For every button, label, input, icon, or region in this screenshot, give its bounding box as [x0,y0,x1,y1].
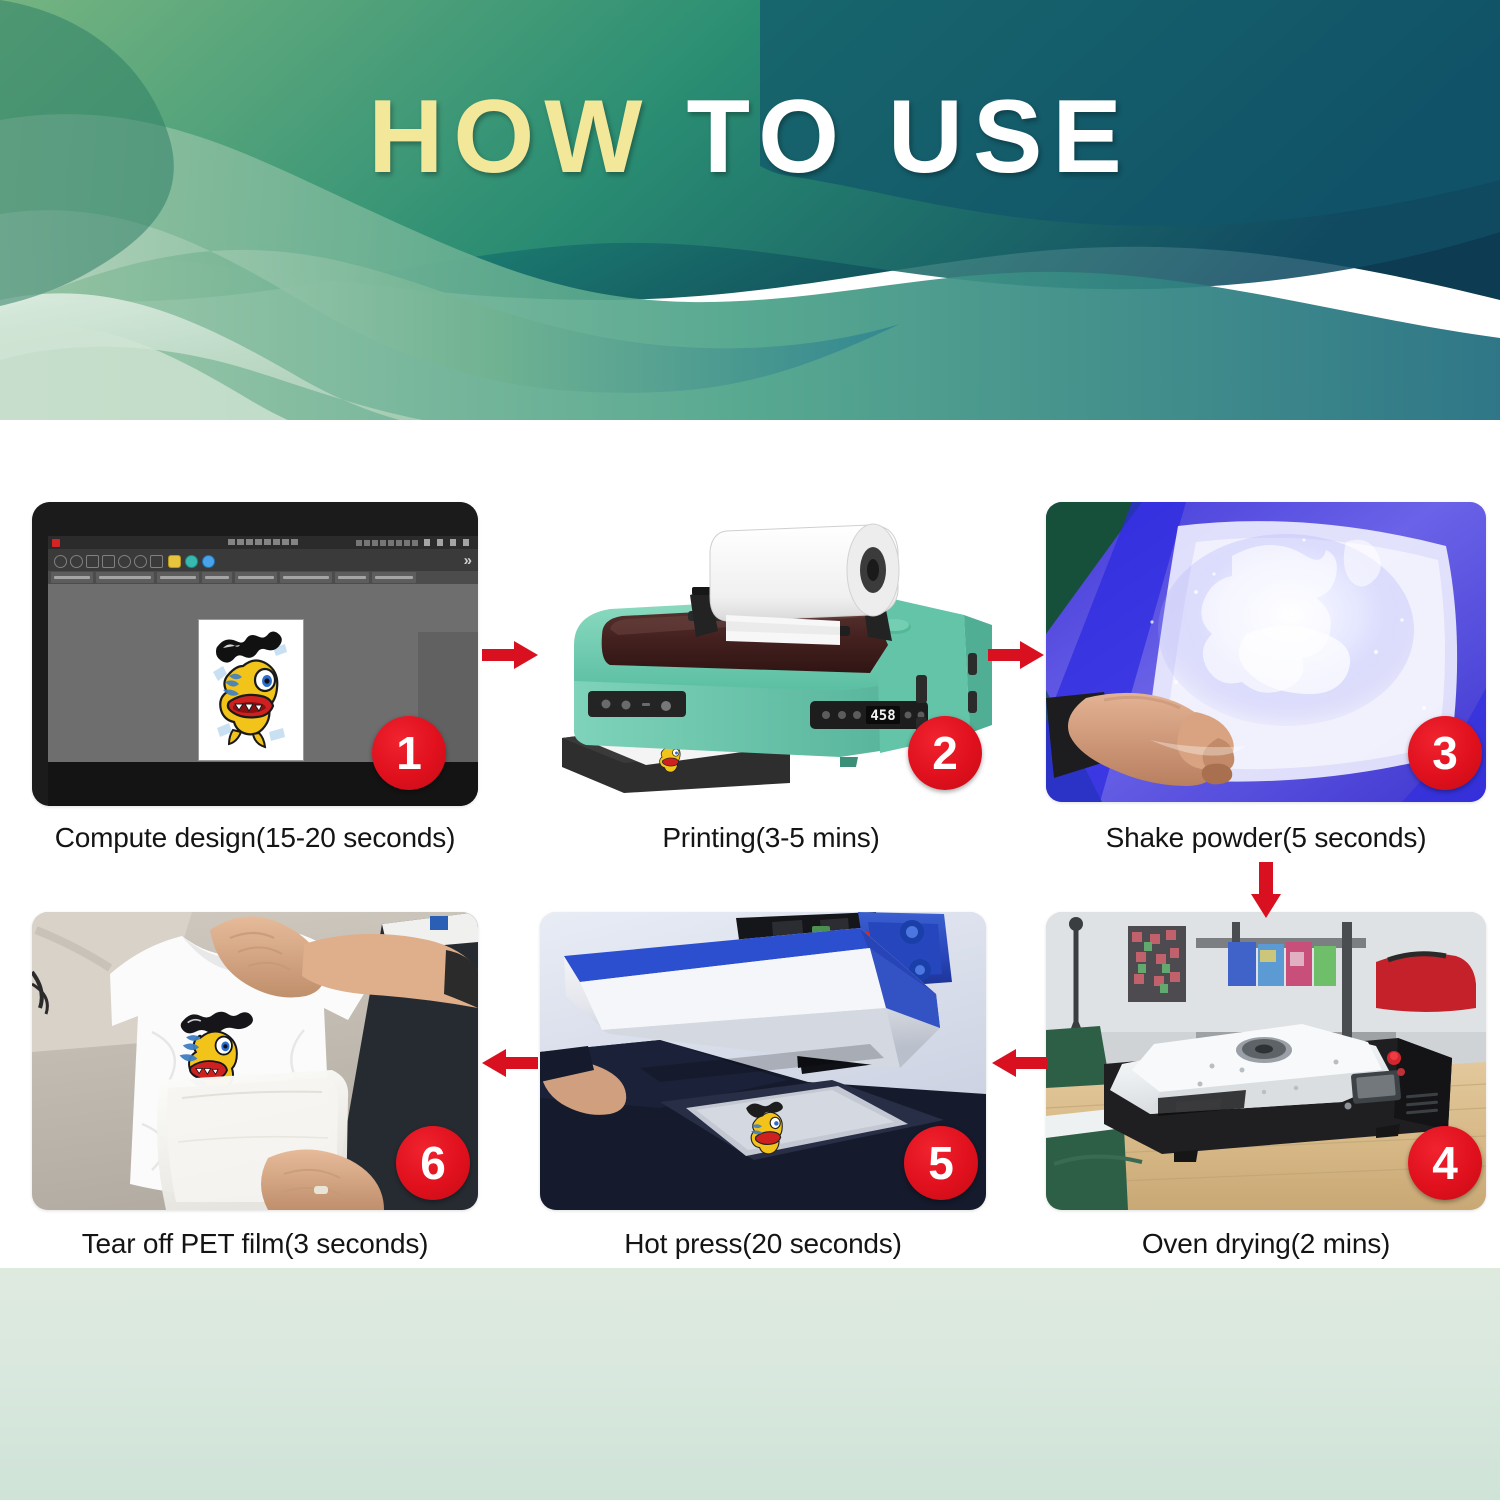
step-number-badge-6: 6 [396,1126,470,1200]
column-header-2[interactable] [96,572,154,583]
app-title-text-placeholder [228,539,298,545]
step-number-badge-2: 2 [908,716,982,790]
app-column-headers[interactable] [48,571,478,584]
toolbar-icon-zoom[interactable] [202,555,215,568]
app-titlebar [48,536,478,549]
chevron-double-right-icon[interactable]: » [464,553,472,568]
page-title-word-2: TO USE [686,79,1131,195]
step-caption-3: Shake powder(5 seconds) [1046,822,1486,854]
arrow-right-icon [482,638,538,672]
toolbar-icon-undo[interactable] [150,555,163,568]
toolbar-icon-paste[interactable] [134,555,147,568]
toolbar-icon-copy[interactable] [118,555,131,568]
step-caption-2: Printing(3-5 mins) [540,822,1002,854]
column-header-7[interactable] [335,572,369,583]
graffiti-character-artwork [199,620,303,760]
window-controls[interactable] [424,539,472,546]
toolbar-icon-print[interactable] [86,555,99,568]
step-caption-6: Tear off PET film(3 seconds) [32,1228,478,1260]
arrow-left-icon [992,1046,1048,1080]
arrow-left-icon [482,1046,538,1080]
column-header-8[interactable] [372,572,416,583]
app-toolbar[interactable]: » [48,549,478,571]
step-number-badge-4: 4 [1408,1126,1482,1200]
toolbar-icon-open[interactable] [54,555,67,568]
step-caption-5: Hot press(20 seconds) [540,1228,986,1260]
page-title-word-1: HOW [368,79,652,195]
header-banner: HOWTO USE [0,0,1500,420]
column-header-6[interactable] [280,572,332,583]
column-header-5[interactable] [235,572,277,583]
toolbar-icon-cut[interactable] [102,555,115,568]
toolbar-icon-layers[interactable] [168,555,181,568]
app-titlebar-right-text [356,540,418,546]
toolbar-icon-save[interactable] [70,555,83,568]
arrow-step4-to-step5 [992,1046,1048,1080]
arrow-step5-to-step6 [482,1046,538,1080]
arrow-step1-to-step2 [482,638,538,672]
step-number-badge-3: 3 [1408,716,1482,790]
column-header-1[interactable] [51,572,93,583]
step-number-badge-1: 1 [372,716,446,790]
footer-band [0,1268,1500,1500]
infographic-page: HOWTO USE [0,0,1500,1500]
toolbar-icon-settings[interactable] [185,555,198,568]
app-logo-icon [52,539,60,547]
column-header-3[interactable] [157,572,199,583]
design-artwork-preview [199,620,303,760]
arrow-down-icon [1248,862,1284,918]
printer-led-display-value: 458 [870,708,895,724]
step-caption-4: Oven drying(2 mins) [1046,1228,1486,1260]
step-number-badge-5: 5 [904,1126,978,1200]
arrow-right-icon [988,638,1044,672]
column-header-4[interactable] [202,572,232,583]
page-title: HOWTO USE [0,85,1500,189]
header-wave-graphic [0,0,1500,420]
arrow-step3-to-step4 [1248,862,1284,918]
arrow-step2-to-step3 [988,638,1044,672]
step-caption-1: Compute design(15-20 seconds) [32,822,478,854]
